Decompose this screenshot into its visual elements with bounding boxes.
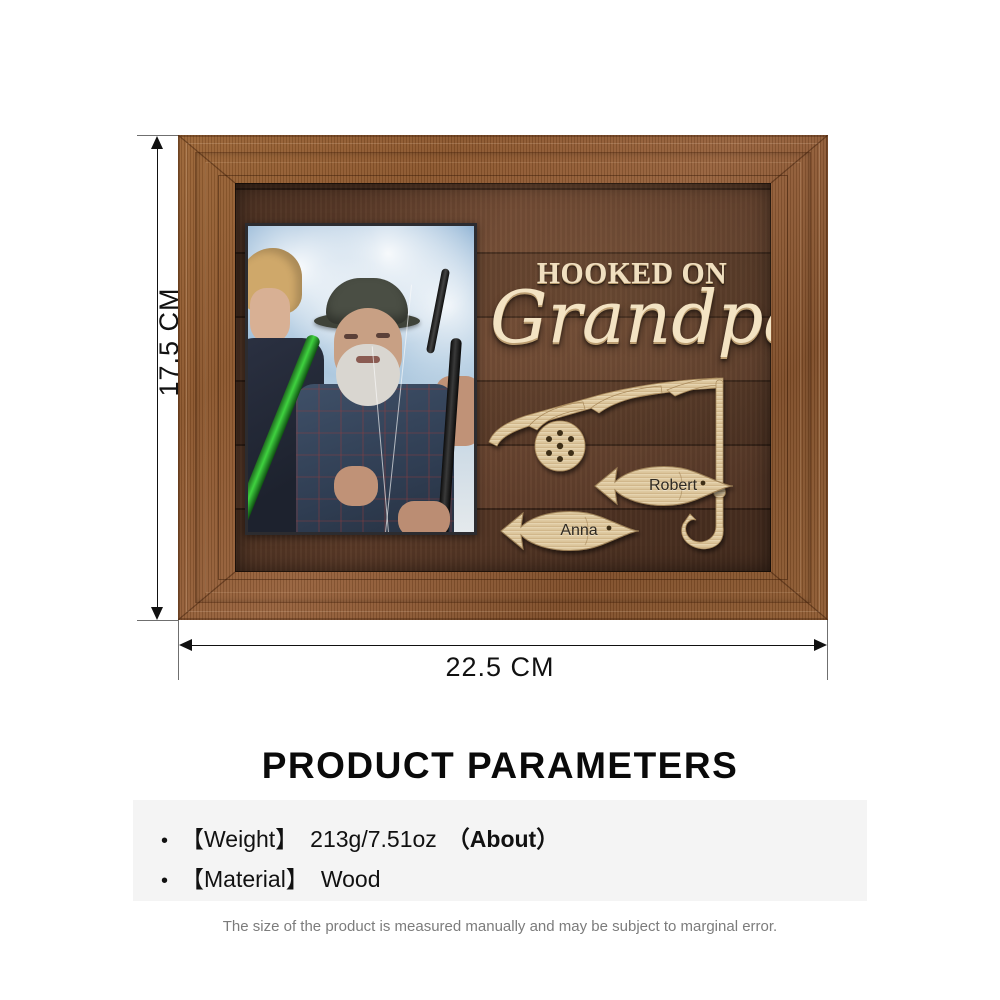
photo-grandpa-beard <box>336 344 400 406</box>
product-parameters-title: PRODUCT PARAMETERS <box>0 745 1000 787</box>
wooden-photo-frame: HOOKED ON Grandpa <box>178 135 828 620</box>
fish-tag-anna: Anna <box>493 503 643 559</box>
parameter-label-weight: 【Weight】 <box>181 820 298 854</box>
parameter-row-material: • 【Material】 Wood <box>161 860 380 894</box>
inserted-photo <box>245 223 477 535</box>
width-arrow-right <box>814 639 827 651</box>
measurement-disclaimer-note: The size of the product is measured manu… <box>0 918 1000 935</box>
photo-child-face <box>250 288 290 344</box>
photo-grandpa-eye-right <box>376 333 390 338</box>
photo-grandpa-eye-left <box>344 334 358 339</box>
product-parameters-box: • 【Weight】 213g/7.51oz （About） • 【Materi… <box>133 800 867 901</box>
height-arrow-top <box>151 136 163 149</box>
grandpa-script-lettering: Grandpa <box>490 275 771 359</box>
parameter-value-weight: 213g/7.51oz <box>310 826 437 853</box>
width-arrow-left <box>179 639 192 651</box>
bullet-icon: • <box>161 870 181 893</box>
parameter-label-material: 【Material】 <box>181 860 309 894</box>
photo-grandpa-hand-upper <box>334 466 378 506</box>
width-dimension-label: 22.5 CM <box>180 652 820 683</box>
guide-line-right <box>827 620 828 680</box>
photo-grandpa-mouth <box>356 356 380 363</box>
guide-line-bottom <box>137 620 179 621</box>
fish-shape-anna <box>493 503 643 559</box>
bullet-icon: • <box>161 830 181 853</box>
photo-grandpa-hand-lower <box>398 501 450 535</box>
parameter-row-weight: • 【Weight】 213g/7.51oz （About） <box>161 820 559 854</box>
parameter-value-material: Wood <box>321 866 381 893</box>
product-image-area: 17.5 CM 22.5 CM <box>0 0 1000 700</box>
parameter-about-weight: （About） <box>447 820 559 854</box>
width-dimension-line <box>186 645 820 646</box>
frame-plank-backing: HOOKED ON Grandpa <box>235 183 771 572</box>
height-arrow-bottom <box>151 607 163 620</box>
